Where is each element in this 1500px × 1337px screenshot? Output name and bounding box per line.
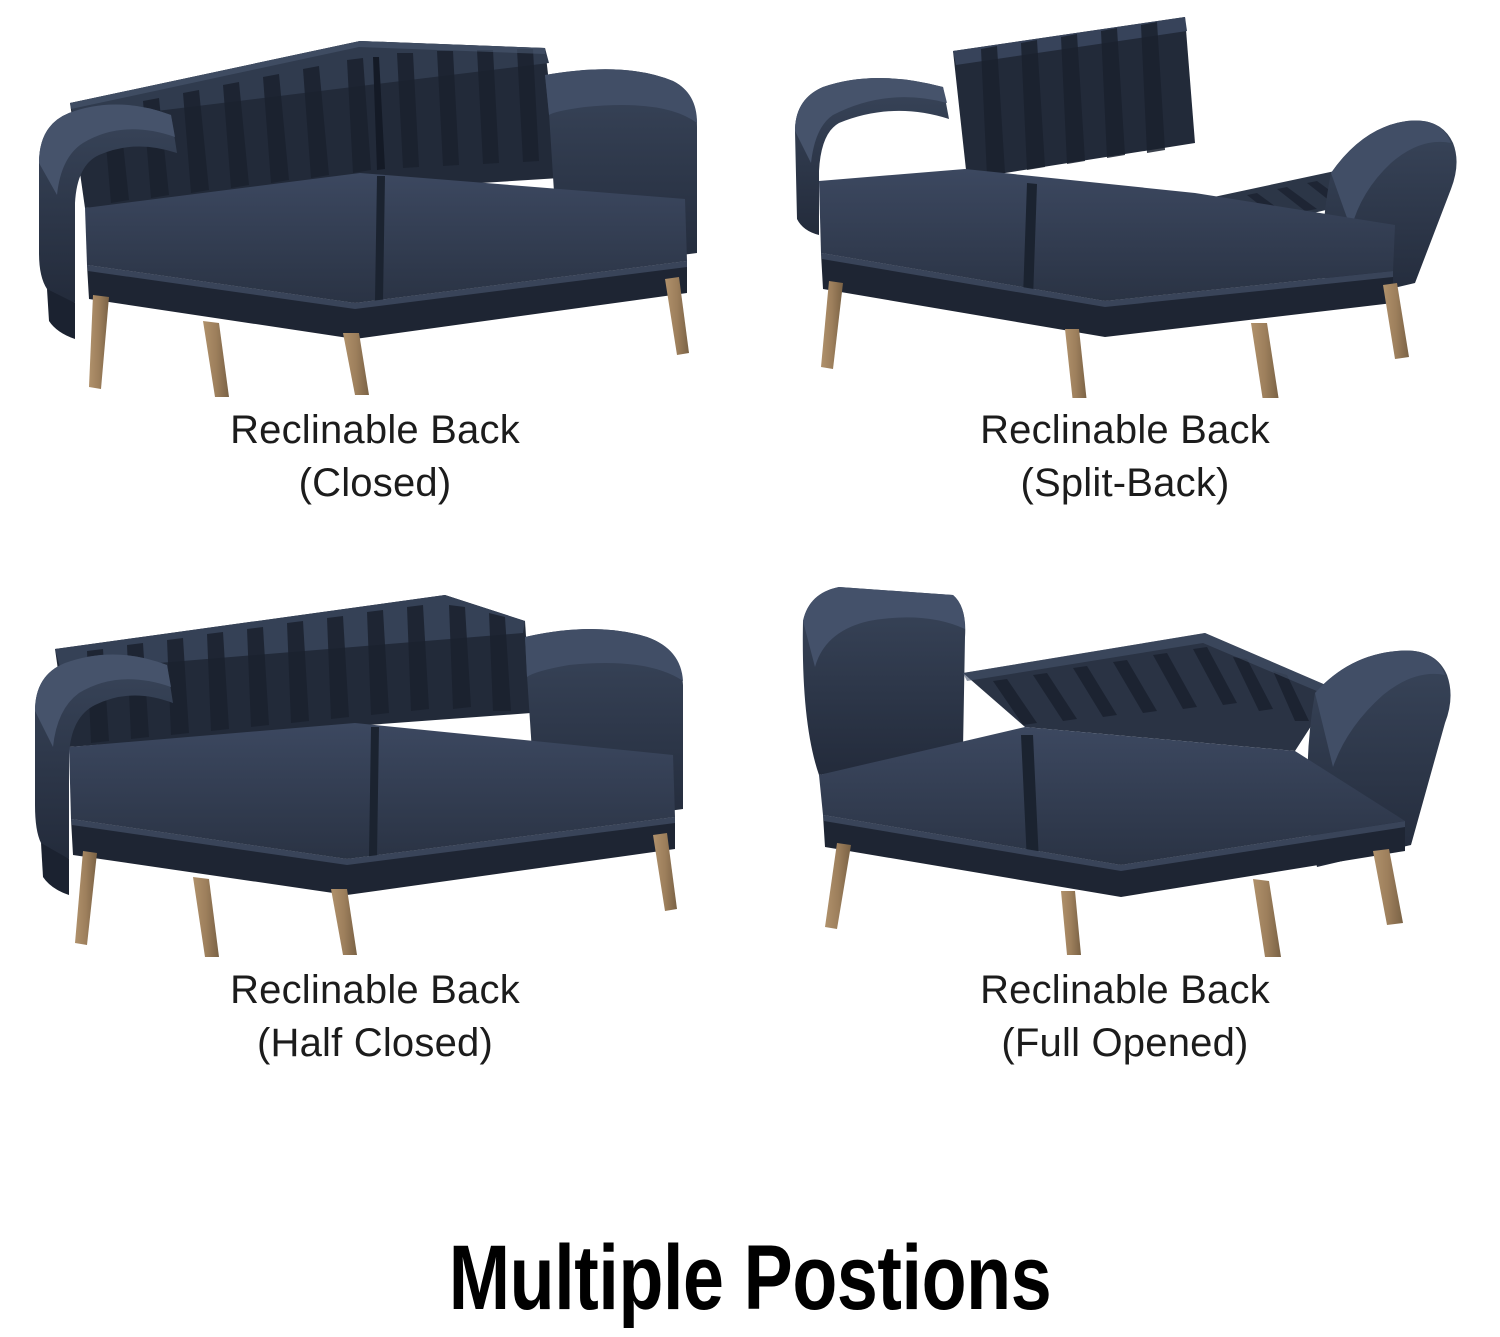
caption-line-1: Reclinable Back [980, 968, 1270, 1012]
caption-line-1: Reclinable Back [980, 408, 1270, 452]
caption-split-back: Reclinable Back (Split-Back) [980, 404, 1270, 510]
caption-line-2: (Full Opened) [980, 1017, 1270, 1070]
caption-line-2: (Closed) [230, 457, 520, 510]
sofa-svg-closed [25, 3, 725, 398]
sofa-svg-half-closed [25, 563, 725, 958]
sofa-svg-full-opened [775, 563, 1475, 958]
sofa-svg-split-back [775, 3, 1475, 398]
caption-line-2: (Split-Back) [980, 457, 1270, 510]
caption-line-2: (Half Closed) [230, 1017, 520, 1070]
panel-closed: Reclinable Back (Closed) [0, 0, 750, 560]
product-feature-image: Reclinable Back (Closed) [0, 0, 1500, 1337]
caption-closed: Reclinable Back (Closed) [230, 404, 520, 510]
seat-base [85, 173, 687, 339]
headline: Multiple Postions [150, 1232, 1350, 1324]
backrest-upright-half [953, 17, 1195, 179]
caption-line-1: Reclinable Back [230, 968, 520, 1012]
panel-half-closed: Reclinable Back (Half Closed) [0, 560, 750, 1120]
sofa-illustration-split-back [750, 0, 1500, 400]
caption-half-closed: Reclinable Back (Half Closed) [230, 964, 520, 1070]
caption-full-opened: Reclinable Back (Full Opened) [980, 964, 1270, 1070]
panel-full-opened: Reclinable Back (Full Opened) [750, 560, 1500, 1120]
sofa-illustration-closed [0, 0, 750, 400]
seat-base [69, 723, 675, 895]
panel-split-back: Reclinable Back (Split-Back) [750, 0, 1500, 560]
sofa-illustration-full-opened [750, 560, 1500, 960]
sofa-illustration-half-closed [0, 560, 750, 960]
position-grid: Reclinable Back (Closed) [0, 0, 1500, 1120]
caption-line-1: Reclinable Back [230, 408, 520, 452]
